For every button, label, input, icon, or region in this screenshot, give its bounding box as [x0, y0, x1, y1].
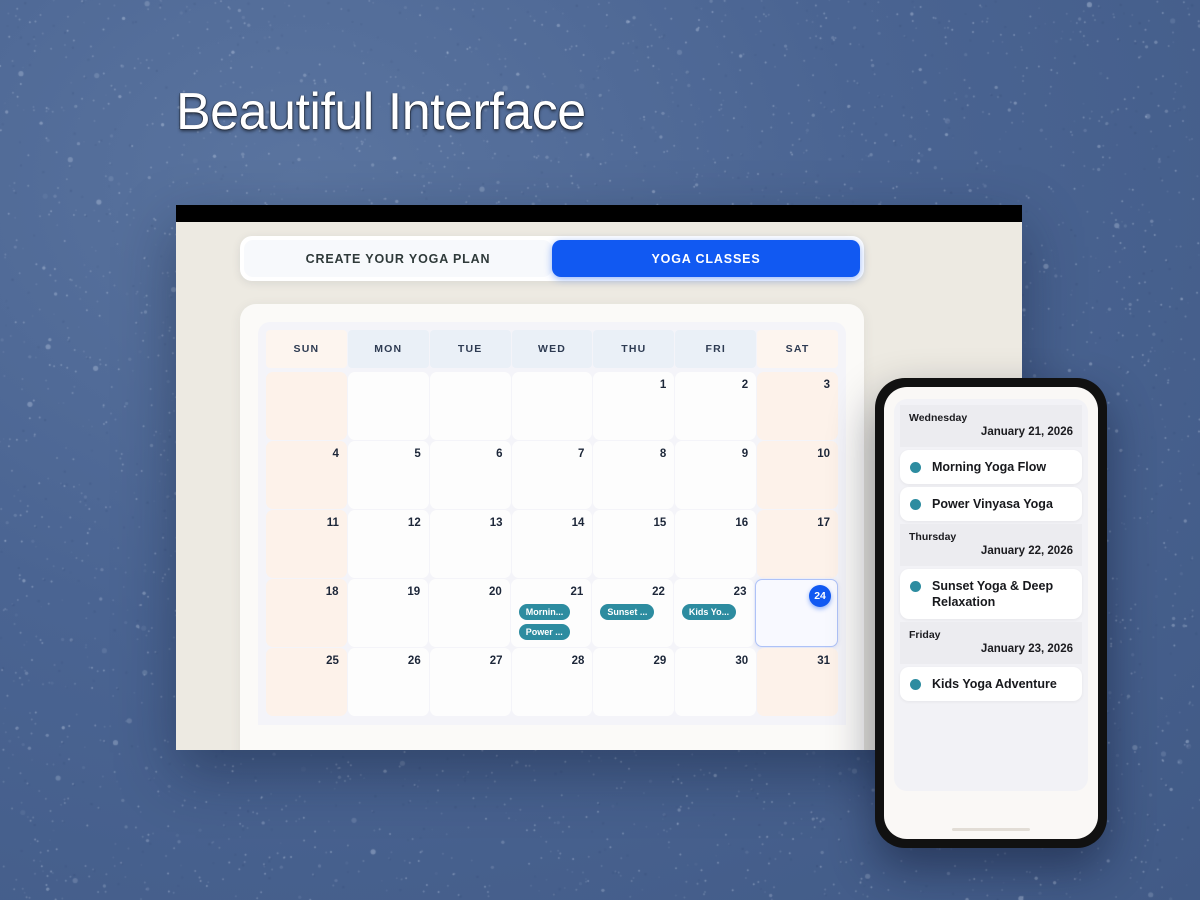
calendar-card: SUNMONTUEWEDTHUFRISAT 123456789101112131…	[240, 304, 864, 750]
calendar-week-row: 123	[266, 372, 838, 440]
calendar-day-cell[interactable]: 19	[348, 579, 429, 647]
day-number: 8	[601, 447, 666, 461]
calendar-grid: SUNMONTUEWEDTHUFRISAT 123456789101112131…	[258, 322, 846, 725]
weekday-header-fri: FRI	[675, 330, 756, 368]
weekday-header-tue: TUE	[430, 330, 511, 368]
calendar-day-cell[interactable]: 21Mornin...Power ...	[511, 579, 592, 647]
day-number: 9	[683, 447, 748, 461]
calendar-day-cell[interactable]: 15	[593, 510, 674, 578]
calendar-day-cell[interactable]: 7	[512, 441, 593, 509]
agenda-date-header: ThursdayJanuary 22, 2026	[900, 524, 1082, 566]
calendar-week-row: 25262728293031	[266, 648, 838, 716]
weekday-header-sun: SUN	[266, 330, 347, 368]
day-number: 27	[438, 654, 503, 668]
calendar-day-cell[interactable]: 13	[430, 510, 511, 578]
calendar-empty-cell	[512, 372, 593, 440]
calendar-day-cell[interactable]: 6	[430, 441, 511, 509]
weekday-header-sat: SAT	[757, 330, 838, 368]
day-number: 26	[356, 654, 421, 668]
day-number: 22	[600, 585, 665, 599]
day-number: 17	[765, 516, 830, 530]
agenda-list: WednesdayJanuary 21, 2026Morning Yoga Fl…	[894, 399, 1088, 791]
calendar-weekday-header-row: SUNMONTUEWEDTHUFRISAT	[266, 330, 838, 368]
day-number: 16	[683, 516, 748, 530]
day-number: 20	[437, 585, 502, 599]
day-number: 21	[519, 585, 584, 599]
calendar-day-cell[interactable]: 4	[266, 441, 347, 509]
day-number: 3	[765, 378, 830, 392]
day-number: 5	[356, 447, 421, 461]
event-chip[interactable]: Kids Yo...	[682, 604, 736, 620]
calendar-day-cell[interactable]: 31	[757, 648, 838, 716]
agenda-event-item[interactable]: Power Vinyasa Yoga	[900, 487, 1082, 521]
agenda-event-title: Sunset Yoga & Deep Relaxation	[932, 578, 1072, 610]
day-number: 4	[274, 447, 339, 461]
agenda-event-item[interactable]: Kids Yoga Adventure	[900, 667, 1082, 701]
calendar-day-cell[interactable]: 25	[266, 648, 347, 716]
calendar-empty-cell	[430, 372, 511, 440]
calendar-day-cell[interactable]: 5	[348, 441, 429, 509]
event-dot-icon	[910, 679, 921, 690]
home-indicator	[952, 828, 1030, 831]
calendar-day-cell[interactable]: 29	[593, 648, 674, 716]
calendar-day-cell[interactable]: 14	[512, 510, 593, 578]
tab-create-yoga-plan[interactable]: CREATE YOUR YOGA PLAN	[244, 240, 552, 277]
agenda-date: January 23, 2026	[909, 642, 1073, 656]
day-number: 6	[438, 447, 503, 461]
day-event-chips: Kids Yo...	[682, 604, 747, 620]
day-event-chips: Mornin...Power ...	[519, 604, 584, 640]
calendar-week-row: 11121314151617	[266, 510, 838, 578]
calendar-day-cell[interactable]: 11	[266, 510, 347, 578]
page-title: Beautiful Interface	[176, 82, 586, 142]
calendar-day-cell[interactable]: 10	[757, 441, 838, 509]
day-number: 11	[274, 516, 339, 530]
agenda-weekday: Friday	[909, 629, 1073, 642]
agenda-event-item[interactable]: Sunset Yoga & Deep Relaxation	[900, 569, 1082, 619]
selected-day-badge: 24	[809, 585, 831, 607]
tab-label: YOGA CLASSES	[651, 252, 760, 266]
agenda-event-title: Power Vinyasa Yoga	[932, 496, 1053, 512]
day-number: 10	[765, 447, 830, 461]
weekday-header-thu: THU	[593, 330, 674, 368]
event-chip[interactable]: Power ...	[519, 624, 570, 640]
day-number: 2	[683, 378, 748, 392]
calendar-day-cell[interactable]: 22Sunset ...	[592, 579, 673, 647]
day-number: 15	[601, 516, 666, 530]
tablet-top-bezel	[176, 205, 1022, 222]
calendar-empty-cell	[348, 372, 429, 440]
day-number: 1	[601, 378, 666, 392]
calendar-day-cell[interactable]: 1	[593, 372, 674, 440]
day-number: 23	[682, 585, 747, 599]
event-dot-icon	[910, 581, 921, 592]
agenda-event-title: Morning Yoga Flow	[932, 459, 1046, 475]
weekday-header-mon: MON	[348, 330, 429, 368]
agenda-date-header: FridayJanuary 23, 2026	[900, 622, 1082, 664]
day-number: 30	[683, 654, 748, 668]
agenda-date-header: WednesdayJanuary 21, 2026	[900, 405, 1082, 447]
calendar-empty-cell	[266, 372, 347, 440]
phone-screen: WednesdayJanuary 21, 2026Morning Yoga Fl…	[884, 387, 1098, 839]
calendar-week-row: 18192021Mornin...Power ...22Sunset ...23…	[266, 579, 838, 647]
calendar-day-cell[interactable]: 27	[430, 648, 511, 716]
agenda-weekday: Thursday	[909, 531, 1073, 544]
event-dot-icon	[910, 499, 921, 510]
calendar-day-cell[interactable]: 30	[675, 648, 756, 716]
tab-bar: CREATE YOUR YOGA PLANYOGA CLASSES	[240, 236, 864, 281]
calendar-day-cell[interactable]: 9	[675, 441, 756, 509]
agenda-weekday: Wednesday	[909, 412, 1073, 425]
day-number: 28	[520, 654, 585, 668]
day-number: 13	[438, 516, 503, 530]
event-chip[interactable]: Sunset ...	[600, 604, 654, 620]
day-number: 29	[601, 654, 666, 668]
day-event-chips: Sunset ...	[600, 604, 665, 620]
day-number: 31	[765, 654, 830, 668]
agenda-date: January 21, 2026	[909, 425, 1073, 439]
day-number: 14	[520, 516, 585, 530]
agenda-date: January 22, 2026	[909, 544, 1073, 558]
event-chip[interactable]: Mornin...	[519, 604, 571, 620]
day-number: 7	[520, 447, 585, 461]
agenda-event-title: Kids Yoga Adventure	[932, 676, 1057, 692]
weekday-header-wed: WED	[512, 330, 593, 368]
phone-device-mockup: WednesdayJanuary 21, 2026Morning Yoga Fl…	[875, 378, 1107, 848]
calendar-day-cell[interactable]: 8	[593, 441, 674, 509]
calendar-day-cell[interactable]: 12	[348, 510, 429, 578]
calendar-week-row: 45678910	[266, 441, 838, 509]
calendar-day-cell[interactable]: 26	[348, 648, 429, 716]
day-number: 19	[356, 585, 421, 599]
calendar-day-cell[interactable]: 23Kids Yo...	[674, 579, 755, 647]
calendar-day-cell[interactable]: 2424	[755, 579, 838, 647]
agenda-event-item[interactable]: Morning Yoga Flow	[900, 450, 1082, 484]
day-number: 18	[274, 585, 339, 599]
calendar-day-cell[interactable]: 17	[757, 510, 838, 578]
calendar-day-cell[interactable]: 16	[675, 510, 756, 578]
day-number: 25	[274, 654, 339, 668]
calendar-day-cell[interactable]: 2	[675, 372, 756, 440]
calendar-day-cell[interactable]: 20	[429, 579, 510, 647]
calendar-day-cell[interactable]: 28	[512, 648, 593, 716]
day-number: 12	[356, 516, 421, 530]
calendar-day-cell[interactable]: 3	[757, 372, 838, 440]
tab-yoga-classes[interactable]: YOGA CLASSES	[552, 240, 860, 277]
event-dot-icon	[910, 462, 921, 473]
tab-label: CREATE YOUR YOGA PLAN	[306, 252, 491, 266]
calendar-day-cell[interactable]: 18	[266, 579, 347, 647]
calendar-weeks: 123456789101112131415161718192021Mornin.…	[266, 372, 838, 716]
